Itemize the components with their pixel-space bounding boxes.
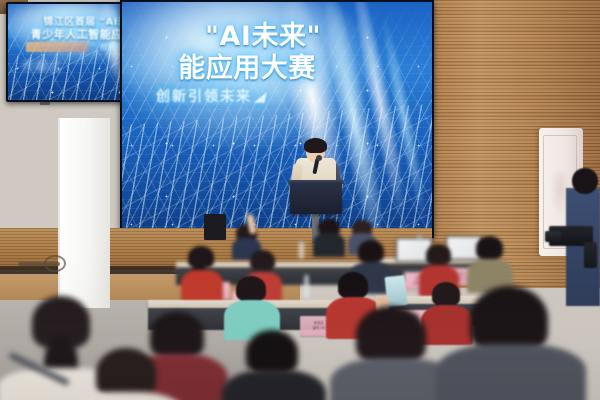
structural-pillar (58, 118, 110, 308)
microphone-capsule-icon (316, 155, 322, 161)
main-screen-surface: "AI未来" 能应用大赛 创新引领未来◢ (122, 2, 432, 236)
water-bottle (299, 242, 304, 259)
lectern (290, 182, 342, 214)
presenter-hair (304, 138, 327, 153)
press-photographer-head (572, 168, 598, 194)
main-led-screen: "AI未来" 能应用大赛 创新引领未来◢ (120, 0, 434, 238)
wall-fixture (40, 100, 50, 105)
auditorium-photo: 锦江区首届 "AI未来" 青少年人工智能应用大赛 创新引领未来 开幕式 "AI未… (0, 0, 600, 400)
pillar-edge (58, 118, 60, 308)
camera-grip (584, 242, 597, 268)
side-screen-accent-bar (26, 42, 88, 52)
stage-speaker-box (204, 214, 226, 240)
coiled-cable-icon (44, 255, 66, 272)
main-subtitle-text: 创新引领未来 (156, 89, 252, 105)
arrow-mark-icon: ◢ (253, 89, 269, 105)
main-screen-title-line2: 能应用大赛 (122, 46, 402, 85)
camera-lens-icon (545, 231, 561, 242)
water-bottle (304, 276, 309, 298)
namecard-line2: 编号 06 (313, 326, 325, 331)
main-screen-subtitle: 创新引领未来◢ (156, 86, 268, 106)
side-screen-blurred-text: 开幕式 (22, 56, 61, 75)
